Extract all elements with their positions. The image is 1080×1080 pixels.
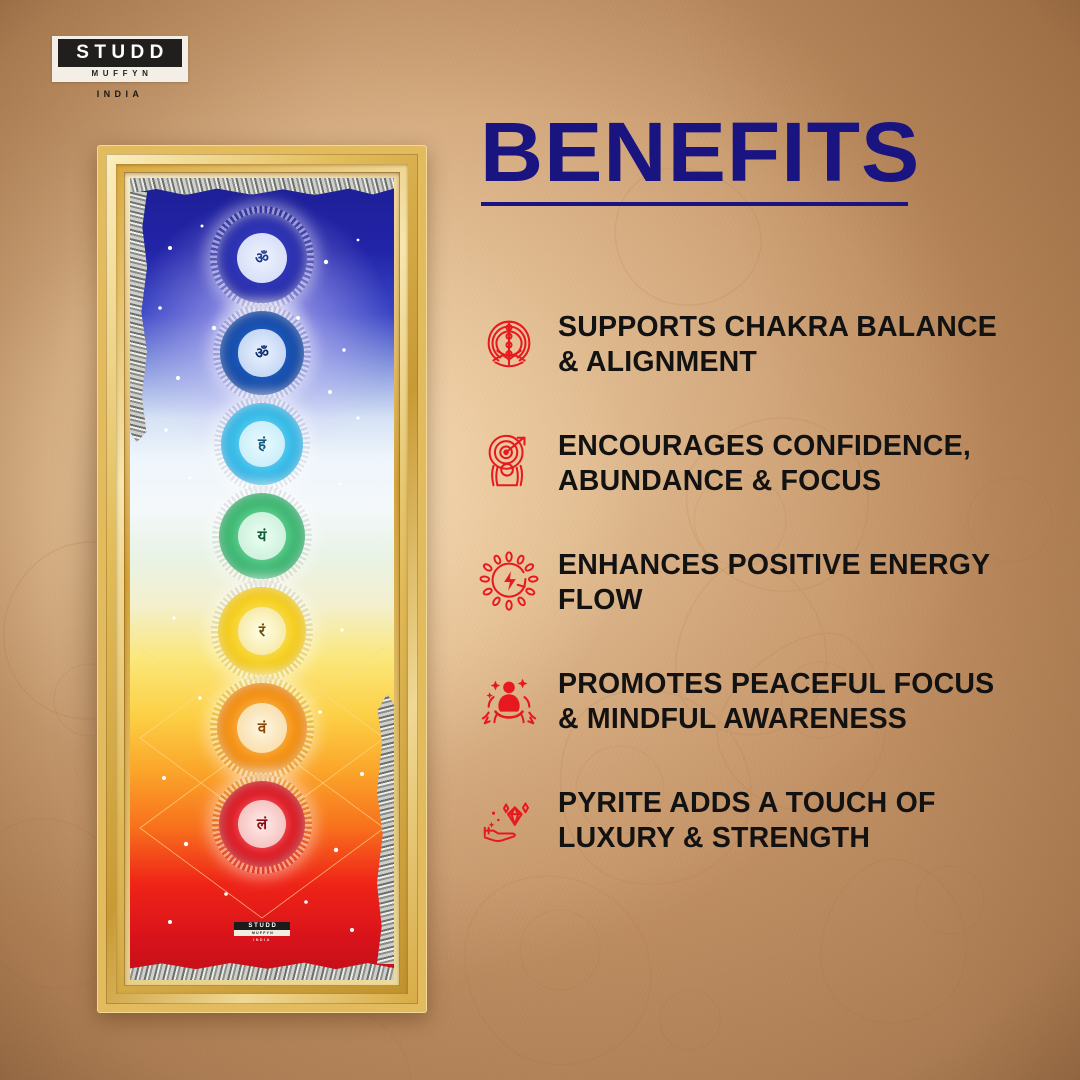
sacral-chakra: वं	[210, 676, 314, 780]
heart-chakra: यं	[212, 486, 312, 586]
benefit-line-2: LUXURY & STRENGTH	[558, 821, 936, 856]
benefit-line-1: PROMOTES PEACEFUL FOCUS	[558, 668, 994, 700]
benefits-panel: BENEFITS	[478, 0, 1080, 1080]
benefit-label: SUPPORTS CHAKRA BALANCE & ALIGNMENT	[558, 306, 997, 380]
solar-plexus-chakra: रं	[211, 580, 313, 682]
brand-logo: STUDD MUFFYN INDIA	[52, 36, 252, 99]
artwork-plate-label: STUDD MUFFYN INDIA	[234, 922, 290, 942]
logo-plate: STUDD MUFFYN	[52, 36, 188, 82]
chakra-glyph: ॐ	[237, 233, 287, 283]
benefit-line-1: SUPPORTS CHAKRA BALANCE	[558, 311, 997, 343]
hand-with-gems-icon	[478, 782, 540, 848]
plate-brand-country: INDIA	[234, 938, 290, 942]
benefit-item: PYRITE ADDS A TOUCH OF LUXURY & STRENGTH	[478, 782, 1078, 878]
throat-chakra: हं	[214, 396, 310, 492]
benefit-item: PROMOTES PEACEFUL FOCUS & MINDFUL AWAREN…	[478, 663, 1078, 759]
root-chakra: लं	[212, 774, 312, 874]
chakra-glyph: हं	[239, 421, 285, 467]
benefit-line-1: PYRITE ADDS A TOUCH OF	[558, 787, 936, 819]
artwork-canvas: ॐ ॐ हं यं	[130, 178, 394, 980]
brand-name: STUDD	[58, 39, 182, 67]
chakra-column: ॐ ॐ हं यं	[196, 212, 328, 874]
plate-brand-name: STUDD	[234, 922, 290, 930]
brand-country: INDIA	[52, 89, 188, 99]
chakra-wall-frame: ॐ ॐ हं यं	[97, 145, 427, 1013]
chakra-glyph: लं	[238, 800, 286, 848]
crown-chakra: ॐ	[210, 206, 314, 310]
benefit-label: ENHANCES POSITIVE ENERGY FLOW	[558, 544, 990, 618]
energy-burst-icon	[478, 544, 540, 610]
benefit-item: ENCOURAGES CONFIDENCE, ABUNDANCE & FOCUS	[478, 425, 1078, 521]
chakra-glyph: वं	[237, 703, 287, 753]
benefit-item: SUPPORTS CHAKRA BALANCE & ALIGNMENT	[478, 306, 1078, 402]
benefit-line-2: FLOW	[558, 583, 990, 618]
page-title: BENEFITS	[480, 110, 920, 194]
benefits-list: SUPPORTS CHAKRA BALANCE & ALIGNMENT	[478, 306, 1078, 901]
benefit-item: ENHANCES POSITIVE ENERGY FLOW	[478, 544, 1078, 640]
title-underline	[481, 202, 908, 206]
third-eye-chakra: ॐ	[213, 304, 311, 402]
benefit-label: PYRITE ADDS A TOUCH OF LUXURY & STRENGTH	[558, 782, 936, 856]
benefit-label: ENCOURAGES CONFIDENCE, ABUNDANCE & FOCUS	[558, 425, 971, 499]
chakra-glyph: ॐ	[238, 329, 285, 376]
benefit-line-1: ENHANCES POSITIVE ENERGY	[558, 549, 990, 581]
target-in-hands-icon	[478, 425, 540, 491]
benefit-line-2: & ALIGNMENT	[558, 345, 997, 380]
chakra-meditation-icon	[478, 306, 540, 372]
plate-brand-sub: MUFFYN	[234, 930, 290, 936]
benefit-line-2: & MINDFUL AWARENESS	[558, 702, 994, 737]
meditating-person-icon	[478, 663, 540, 729]
benefit-line-2: ABUNDANCE & FOCUS	[558, 464, 971, 499]
benefit-label: PROMOTES PEACEFUL FOCUS & MINDFUL AWAREN…	[558, 663, 994, 737]
benefit-line-1: ENCOURAGES CONFIDENCE,	[558, 430, 971, 462]
chakra-glyph: यं	[238, 512, 286, 560]
brand-subname: MUFFYN	[58, 67, 182, 78]
